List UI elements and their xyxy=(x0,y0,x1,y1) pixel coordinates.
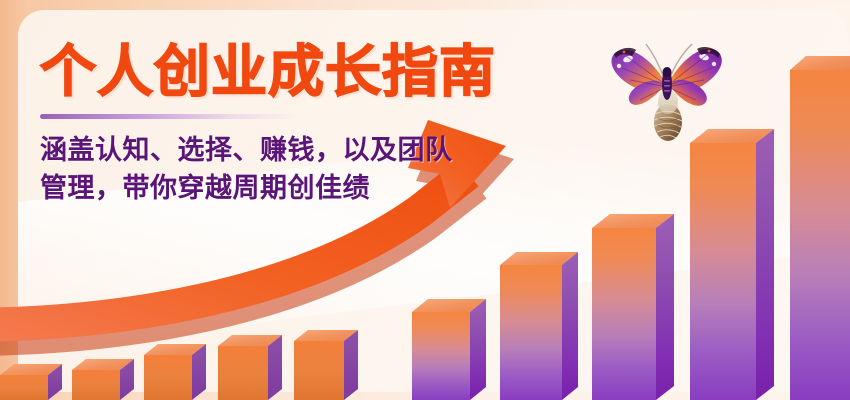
bar-10 xyxy=(790,56,850,400)
bar-8 xyxy=(592,214,674,400)
subtitle: 涵盖认知、选择、赚钱，以及团队 管理，带你穿越周期创佳绩 xyxy=(40,132,640,209)
page-title: 个人创业成长指南 xyxy=(40,44,640,101)
bar-2 xyxy=(72,359,134,400)
promo-banner: 个人创业成长指南 涵盖认知、选择、赚钱，以及团队 管理，带你穿越周期创佳绩 xyxy=(0,0,850,400)
bar-4 xyxy=(218,335,282,400)
subtitle-line-1: 涵盖认知、选择、赚钱，以及团队 xyxy=(40,132,640,170)
bar-5 xyxy=(294,330,358,400)
bar-9 xyxy=(690,129,774,400)
text-block: 个人创业成长指南 涵盖认知、选择、赚钱，以及团队 管理，带你穿越周期创佳绩 xyxy=(40,44,640,209)
subtitle-line-2: 管理，带你穿越周期创佳绩 xyxy=(40,170,640,208)
bar-1 xyxy=(0,364,62,400)
bar-6 xyxy=(412,299,486,400)
bar-3 xyxy=(144,344,206,400)
bar-7 xyxy=(500,252,578,400)
title-divider xyxy=(40,114,298,119)
